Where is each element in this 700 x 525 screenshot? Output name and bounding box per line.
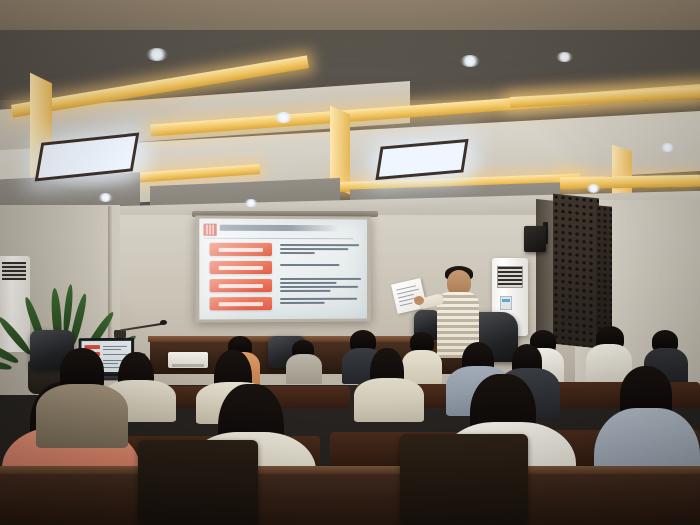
desk-top-edge (0, 466, 700, 474)
presentation-slide (203, 223, 363, 316)
conference-room-photo (0, 0, 700, 525)
downlight-icon (98, 193, 113, 202)
slide-box-3 (210, 279, 272, 292)
downlight-icon (660, 143, 675, 152)
presenter-hand (414, 296, 424, 305)
chair-back[interactable] (400, 434, 528, 525)
ac-vent (2, 262, 26, 280)
slide-text-4 (280, 298, 357, 306)
downlight-icon (146, 48, 168, 61)
cove-light-strip (560, 175, 700, 189)
slide-box-1 (210, 243, 272, 256)
downlight-icon (244, 199, 258, 207)
slide-box-label (219, 302, 263, 306)
slide-box-label (219, 284, 263, 288)
decorative-wall-grille (553, 194, 599, 349)
slide-box-2 (210, 261, 272, 274)
slide-box-label (219, 247, 263, 251)
company-logo (203, 224, 216, 236)
ac-vent (497, 266, 523, 288)
ceiling-top-strip (0, 0, 700, 30)
downlight-icon (556, 52, 573, 62)
microphone-head (160, 320, 167, 325)
ac-display (502, 299, 510, 302)
slide-box-label (219, 265, 263, 269)
wall-speaker (524, 226, 546, 252)
slide-text-3 (280, 278, 361, 294)
slide-text-1 (280, 244, 359, 256)
slide-divider (203, 238, 353, 240)
downlight-icon (274, 112, 293, 123)
slide-box-4 (210, 297, 272, 310)
downlight-icon (460, 55, 480, 67)
downlight-icon (586, 184, 601, 193)
desk-device-slot (172, 364, 204, 367)
desk-row-front (0, 470, 700, 525)
slide-title-bar (220, 225, 340, 232)
slide-text-2 (280, 264, 339, 268)
chair-back[interactable] (138, 440, 258, 525)
